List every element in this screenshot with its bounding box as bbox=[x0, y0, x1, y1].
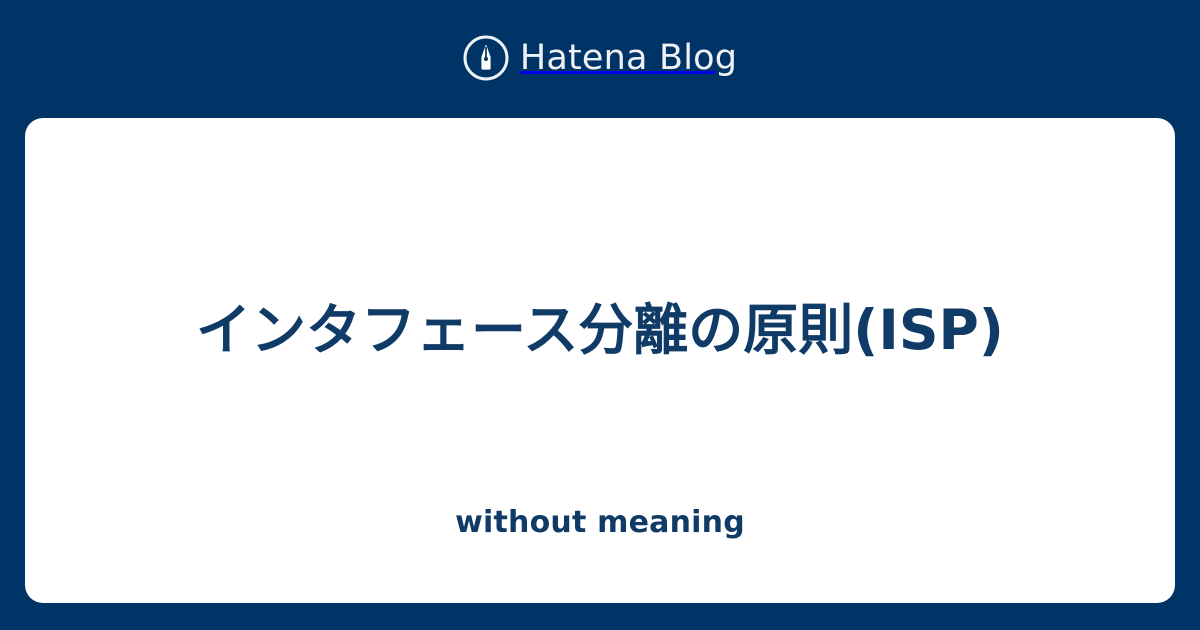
header-bar: Hatena Blog bbox=[0, 0, 1200, 118]
entry-card-content: インタフェース分離の原則(ISP) without meaning bbox=[25, 118, 1175, 603]
page-title: インタフェース分離の原則(ISP) bbox=[25, 303, 1175, 358]
brand-name-label: Hatena Blog bbox=[520, 41, 737, 76]
entry-card: インタフェース分離の原則(ISP) without meaning bbox=[25, 118, 1175, 603]
hatena-blog-brand-link[interactable]: Hatena Blog bbox=[463, 35, 737, 81]
blog-name-label: without meaning bbox=[25, 508, 1175, 538]
pen-nib-circle-icon bbox=[463, 35, 509, 81]
